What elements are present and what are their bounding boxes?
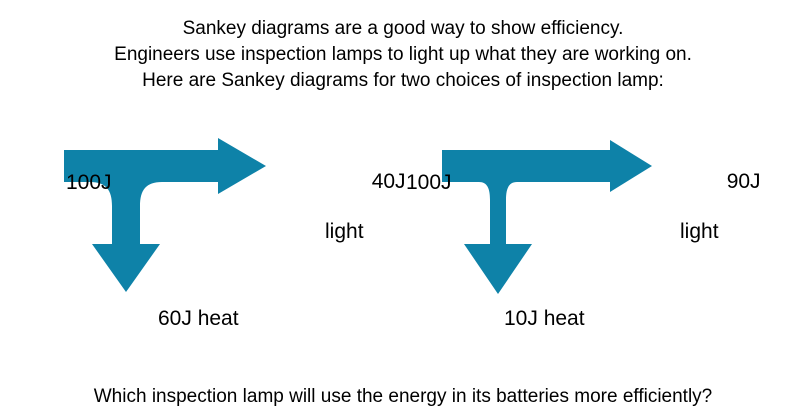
intro-line-3: Here are Sankey diagrams for two choices… [0,68,806,94]
output-light-name-lamp-b: light [680,219,761,244]
output-light-name-lamp-a: light [325,219,406,244]
output-label-heat-lamp-a: 60J heat [158,306,239,331]
output-light-value-lamp-b: 90J [727,170,761,193]
flow-shape-lamp-b [442,140,652,294]
worksheet-page: Sankey diagrams are a good way to show e… [0,0,806,416]
flow-shape-lamp-a [64,138,266,292]
input-label-lamp-a: 100J [66,170,112,195]
output-label-light-lamp-a: 40J light [325,144,406,294]
intro-text-block: Sankey diagrams are a good way to show e… [0,16,806,94]
sankey-diagrams-area: 100J 40J light 60J heat 100J 90J light 1… [0,118,806,358]
question-block: Which inspection lamp will use the energ… [0,385,806,409]
input-label-lamp-b: 100J [406,170,452,195]
intro-line-2: Engineers use inspection lamps to light … [0,42,806,68]
intro-line-1: Sankey diagrams are a good way to show e… [0,16,806,42]
output-label-heat-lamp-b: 10J heat [504,306,585,331]
sankey-diagram-lamp-b: 100J 90J light 10J heat [400,118,780,358]
sankey-diagram-lamp-a: 100J 40J light 60J heat [22,118,402,358]
output-label-light-lamp-b: 90J light [680,144,761,294]
question-text: Which inspection lamp will use the energ… [94,386,713,407]
